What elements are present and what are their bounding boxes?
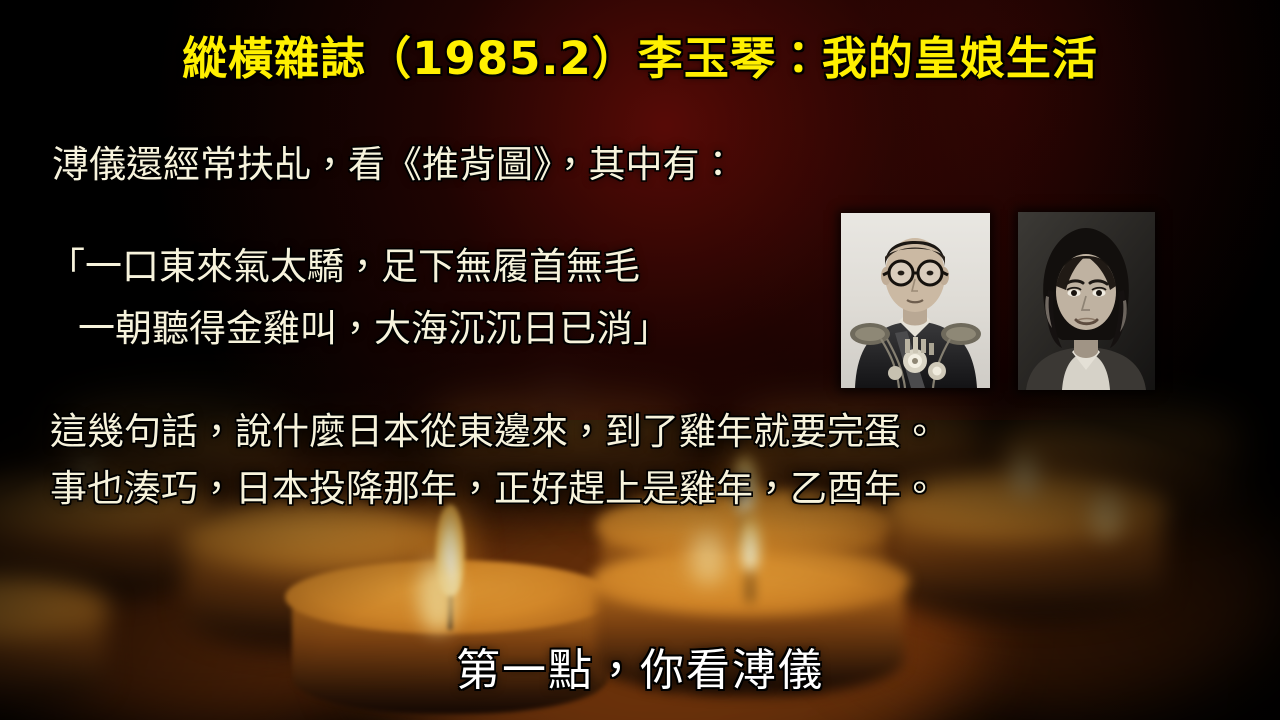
- intro-text-line: 溥儀還經常扶乩，看《推背圖》，其中有：: [52, 146, 737, 183]
- burned-in-subtitle: 第一點，你看溥儀: [0, 634, 1280, 698]
- slide-content: 縱橫雜誌（1985.2）李玉琴：我的皇娘生活 溥儀還經常扶乩，看《推背圖》，其中…: [0, 0, 1280, 720]
- video-slide: 縱橫雜誌（1985.2）李玉琴：我的皇娘生活 溥儀還經常扶乩，看《推背圖》，其中…: [0, 0, 1280, 720]
- puyi-portrait-photo: [841, 213, 990, 388]
- li-yuqin-portrait-illustration: [1018, 212, 1155, 390]
- explanation-line-1: 這幾句話，說什麼日本從東邊來，到了雞年就要完蛋。: [50, 413, 938, 450]
- li-yuqin-portrait-photo: [1018, 212, 1155, 390]
- puyi-portrait-illustration: [841, 213, 990, 388]
- explanation-line-2: 事也湊巧，日本投降那年，正好趕上是雞年，乙酉年。: [50, 470, 938, 507]
- poem-line-2: 一朝聽得金雞叫，大海沉沉日已消」: [78, 310, 670, 347]
- poem-line-1: 「一口東來氣太驕，足下無履首無毛: [48, 248, 640, 285]
- slide-title: 縱橫雜誌（1985.2）李玉琴：我的皇娘生活: [0, 22, 1280, 87]
